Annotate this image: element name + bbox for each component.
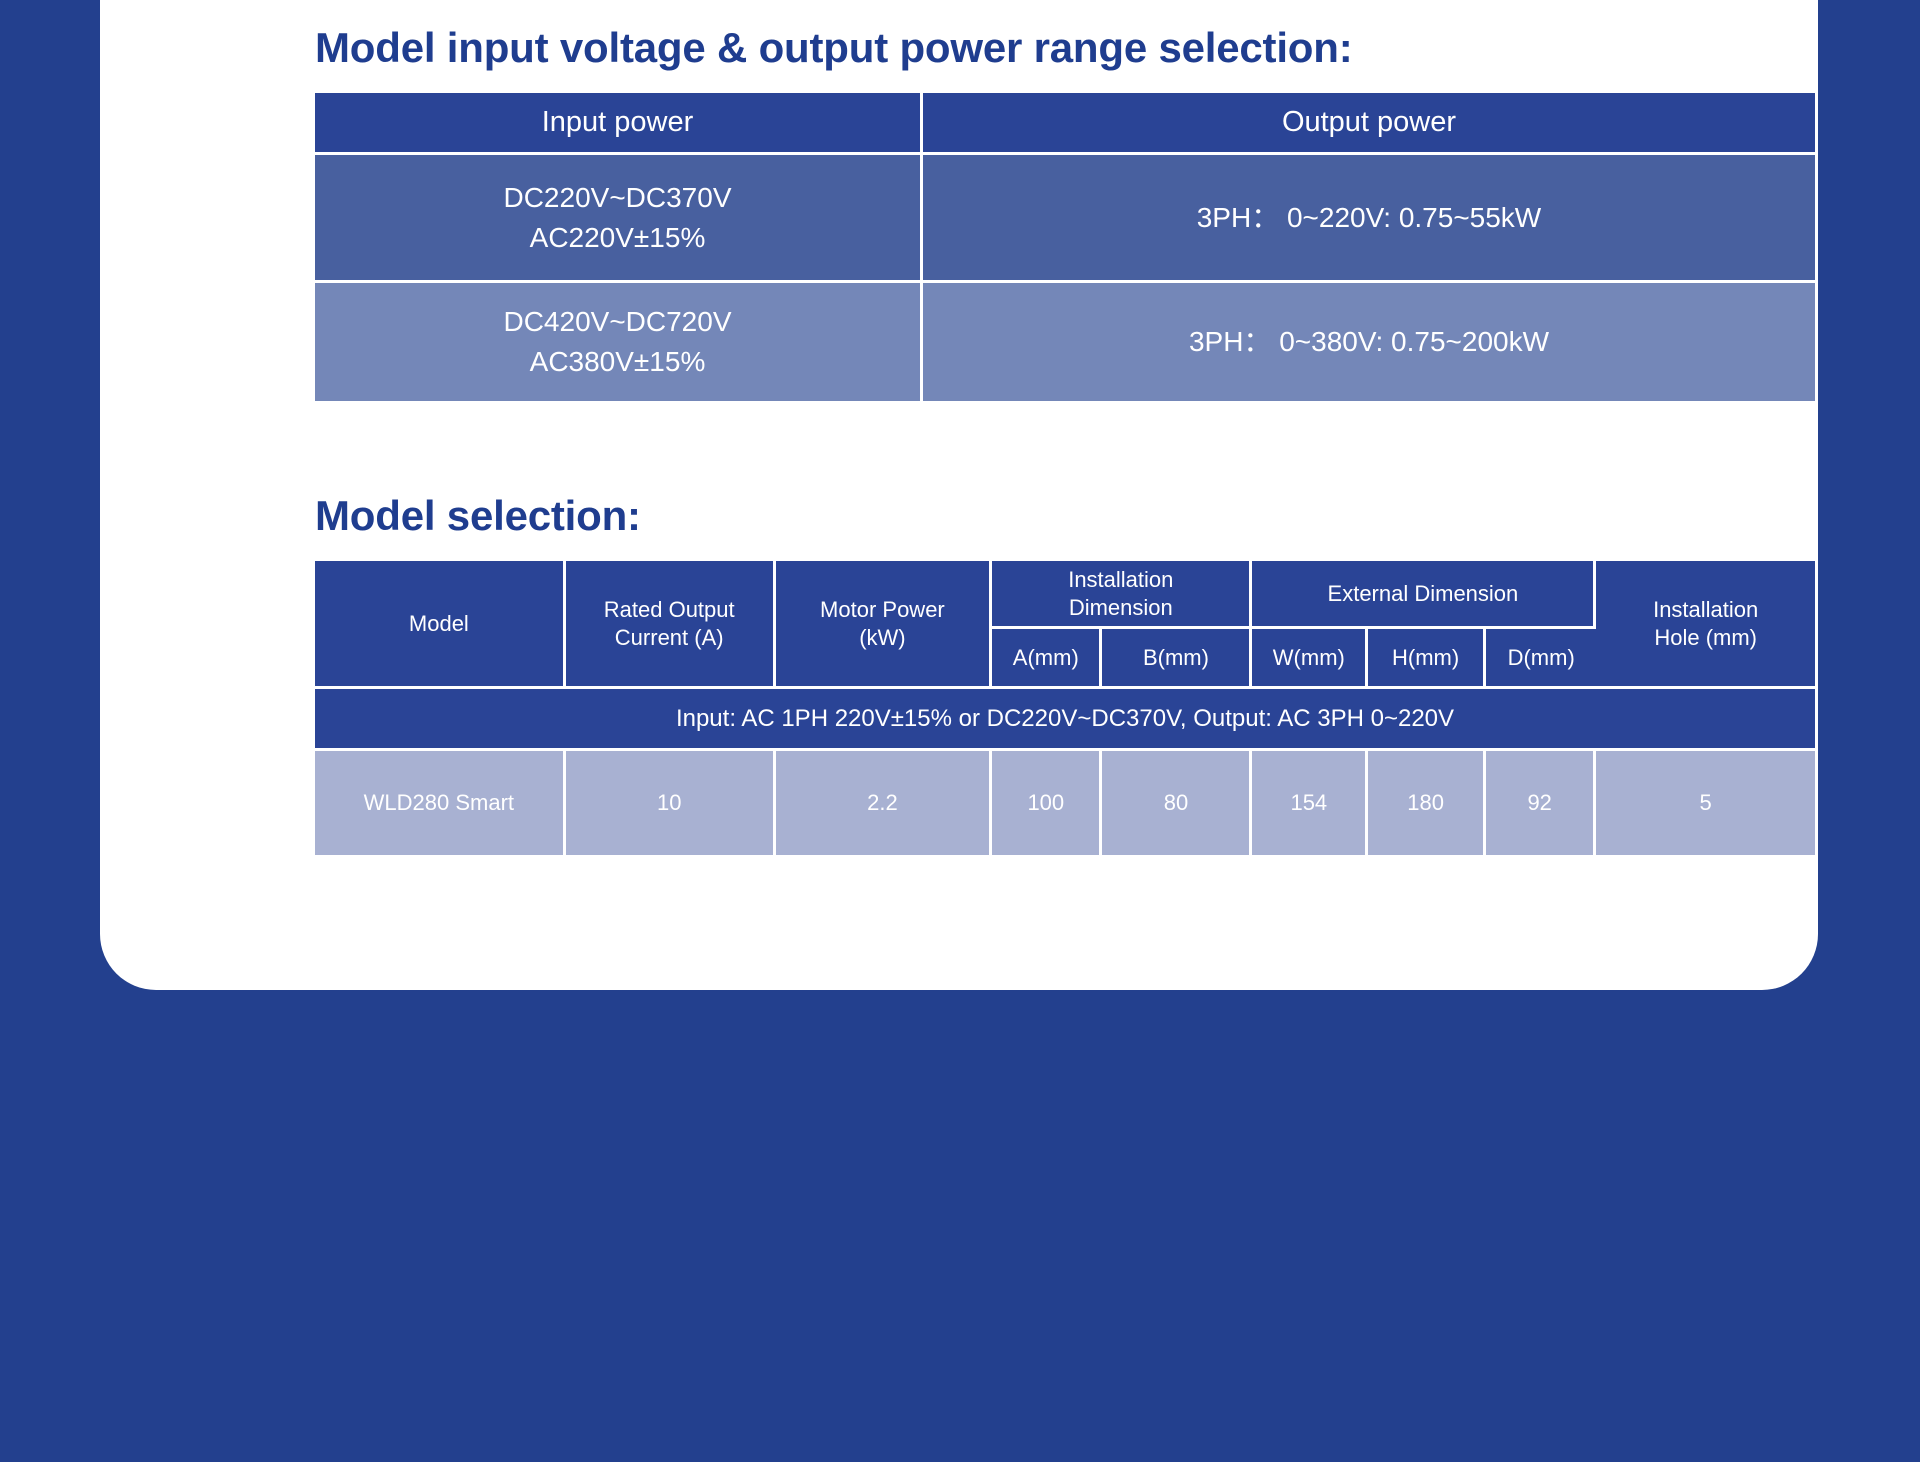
model-selection-table: Model Rated Output Current (A) Motor Pow… [315,561,1815,855]
header-rated-output-current-line1: Rated Output [570,596,769,624]
header-motor-power-line2: (kW) [780,624,985,652]
header-input-power: Input power [315,93,923,155]
cell-motor-power: 2.2 [776,751,992,855]
cell-a-mm: 100 [992,751,1102,855]
content-card: Model input voltage & output power range… [100,0,1818,990]
input-voltage-dc-2: DC420V~DC720V [325,302,910,342]
header-installation-hole-line2: Hole (mm) [1600,624,1811,652]
header-external-dimension: External Dimension [1252,561,1596,629]
table-row: DC420V~DC720V AC380V±15% 3PH： 0~380V: 0.… [315,283,1815,401]
header-installation-dimension-line1: Installation [996,566,1245,594]
header-sub-w: W(mm) [1252,629,1368,689]
header-output-power: Output power [923,93,1815,155]
voltage-range-table: Input power Output power DC220V~DC370V A… [315,93,1815,401]
cell-output-power-2: 3PH： 0~380V: 0.75~200kW [923,283,1815,401]
header-installation-dimension: Installation Dimension [992,561,1252,629]
input-voltage-dc-1: DC220V~DC370V [325,178,910,218]
spec-band-text: Input: AC 1PH 220V±15% or DC220V~DC370V,… [315,689,1815,751]
table-header-row-top: Model Rated Output Current (A) Motor Pow… [315,561,1815,629]
header-sub-a: A(mm) [992,629,1102,689]
header-rated-output-current: Rated Output Current (A) [566,561,776,689]
cell-model: WLD280 Smart [315,751,566,855]
header-installation-hole: Installation Hole (mm) [1596,561,1815,689]
header-motor-power-line1: Motor Power [780,596,985,624]
header-sub-h: H(mm) [1368,629,1486,689]
header-model: Model [315,561,566,689]
model-selection-title: Model selection: [315,493,1815,539]
cell-h-mm: 180 [1368,751,1486,855]
cell-input-power-1: DC220V~DC370V AC220V±15% [315,155,923,283]
content-wrapper: Model input voltage & output power range… [315,25,1815,855]
cell-rated-output-current: 10 [566,751,776,855]
spec-band-row: Input: AC 1PH 220V±15% or DC220V~DC370V,… [315,689,1815,751]
header-sub-b: B(mm) [1102,629,1252,689]
table-row: WLD280 Smart 10 2.2 100 80 154 180 92 5 [315,751,1815,855]
table-header-row: Input power Output power [315,93,1815,155]
cell-input-power-2: DC420V~DC720V AC380V±15% [315,283,923,401]
cell-b-mm: 80 [1102,751,1252,855]
cell-installation-hole: 5 [1596,751,1815,855]
header-motor-power: Motor Power (kW) [776,561,992,689]
cell-w-mm: 154 [1252,751,1368,855]
header-installation-hole-line1: Installation [1600,596,1811,624]
page-title: Model input voltage & output power range… [315,25,1815,71]
table-row: DC220V~DC370V AC220V±15% 3PH： 0~220V: 0.… [315,155,1815,283]
cell-output-power-1: 3PH： 0~220V: 0.75~55kW [923,155,1815,283]
header-installation-dimension-line2: Dimension [996,594,1245,622]
header-rated-output-current-line2: Current (A) [570,624,769,652]
page-root: Model input voltage & output power range… [0,0,1920,1462]
input-voltage-ac-2: AC380V±15% [325,342,910,382]
input-voltage-ac-1: AC220V±15% [325,218,910,258]
cell-d-mm: 92 [1486,751,1596,855]
header-sub-d: D(mm) [1486,629,1596,689]
